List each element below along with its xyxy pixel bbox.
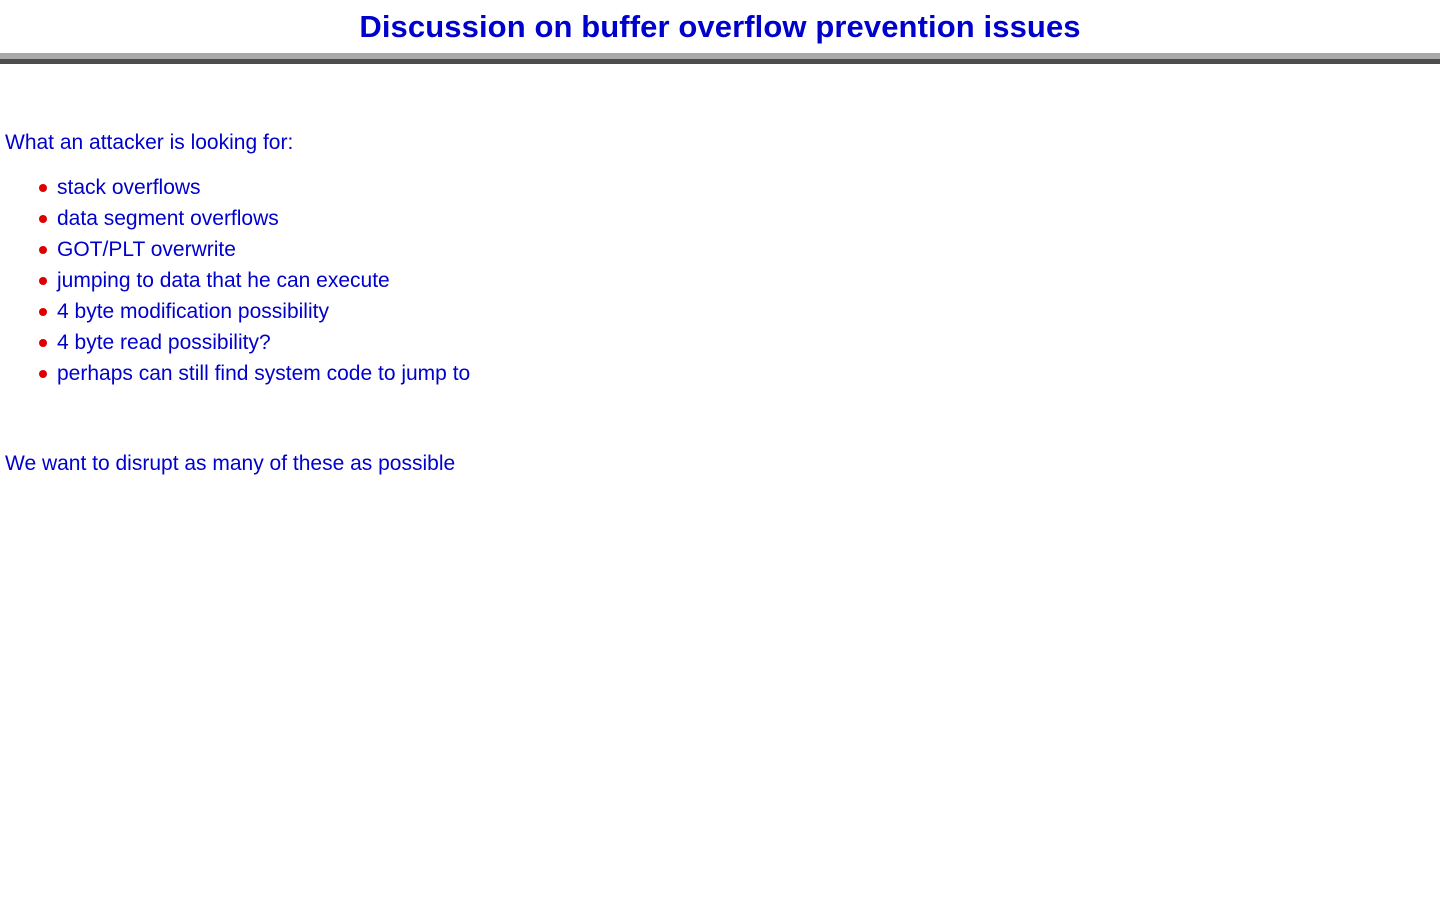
bullet-dot-icon <box>39 277 47 285</box>
page-title: Discussion on buffer overflow prevention… <box>359 11 1080 42</box>
list-item: data segment overflows <box>0 203 470 234</box>
attacker-goals-list: stack overflows data segment overflows G… <box>0 172 470 389</box>
list-item-label: stack overflows <box>57 177 201 198</box>
bullet-dot-icon <box>39 215 47 223</box>
list-item-label: data segment overflows <box>57 208 279 229</box>
list-item-label: 4 byte read possibility? <box>57 332 271 353</box>
divider-dark-band <box>0 59 1440 64</box>
list-item-label: 4 byte modification possibility <box>57 301 329 322</box>
bullet-dot-icon <box>39 308 47 316</box>
closing-text: We want to disrupt as many of these as p… <box>5 453 455 474</box>
list-item: jumping to data that he can execute <box>0 265 470 296</box>
bullet-dot-icon <box>39 246 47 254</box>
header-divider <box>0 53 1440 64</box>
list-item: stack overflows <box>0 172 470 203</box>
list-item: 4 byte modification possibility <box>0 296 470 327</box>
list-item: perhaps can still find system code to ju… <box>0 358 470 389</box>
bullet-dot-icon <box>39 370 47 378</box>
list-item-label: perhaps can still find system code to ju… <box>57 363 470 384</box>
slide-title-bar: Discussion on buffer overflow prevention… <box>0 0 1440 52</box>
list-item-label: GOT/PLT overwrite <box>57 239 236 260</box>
bullet-dot-icon <box>39 339 47 347</box>
list-item: 4 byte read possibility? <box>0 327 470 358</box>
list-item: GOT/PLT overwrite <box>0 234 470 265</box>
list-item-label: jumping to data that he can execute <box>57 270 390 291</box>
bullet-dot-icon <box>39 184 47 192</box>
intro-text: What an attacker is looking for: <box>5 132 293 153</box>
slide-page: { "slide": { "title": "Discussion on buf… <box>0 0 1440 900</box>
